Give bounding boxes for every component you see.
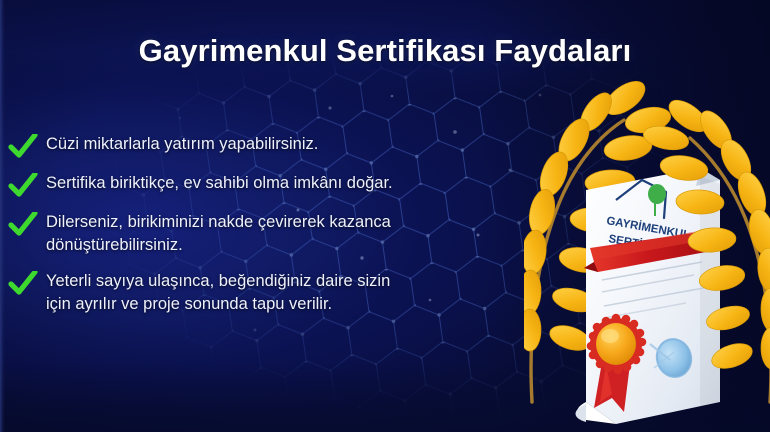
list-item: Dilerseniz, birikiminizi nakde çevirerek… bbox=[8, 211, 528, 257]
benefits-list: Cüzi miktarlarla yatırım yapabilirsiniz.… bbox=[8, 133, 528, 329]
list-item-line: Sertifika biriktikçe, ev sahibi olma imk… bbox=[46, 172, 528, 195]
list-item: Sertifika biriktikçe, ev sahibi olma imk… bbox=[8, 172, 528, 198]
check-icon bbox=[8, 212, 46, 238]
list-item-line: için ayrılır ve proje sonunda tapu veril… bbox=[46, 293, 528, 316]
certificate-illustration: GAYRİMENKUL SERTİFİKASI bbox=[524, 72, 770, 432]
list-item-text: Cüzi miktarlarla yatırım yapabilirsiniz. bbox=[46, 133, 528, 156]
list-item-line: Cüzi miktarlarla yatırım yapabilirsiniz. bbox=[46, 133, 528, 156]
list-item-line: dönüştürebilirsiniz. bbox=[46, 234, 528, 257]
check-icon bbox=[8, 134, 46, 160]
list-item-line: Dilerseniz, birikiminizi nakde çevirerek… bbox=[46, 211, 528, 234]
check-icon bbox=[8, 271, 46, 297]
list-item-text: Yeterli sayıya ulaşınca, beğendiğiniz da… bbox=[46, 270, 528, 316]
list-item: Cüzi miktarlarla yatırım yapabilirsiniz. bbox=[8, 133, 528, 159]
page-title: Gayrimenkul Sertifikası Faydaları bbox=[0, 33, 770, 69]
list-item-text: Dilerseniz, birikiminizi nakde çevirerek… bbox=[46, 211, 528, 257]
list-item-line: Yeterli sayıya ulaşınca, beğendiğiniz da… bbox=[46, 270, 528, 293]
check-icon bbox=[8, 173, 46, 199]
list-item-text: Sertifika biriktikçe, ev sahibi olma imk… bbox=[46, 172, 528, 195]
slide-root: Gayrimenkul Sertifikası Faydaları Cüzi m… bbox=[0, 0, 770, 432]
list-item: Yeterli sayıya ulaşınca, beğendiğiniz da… bbox=[8, 270, 528, 316]
